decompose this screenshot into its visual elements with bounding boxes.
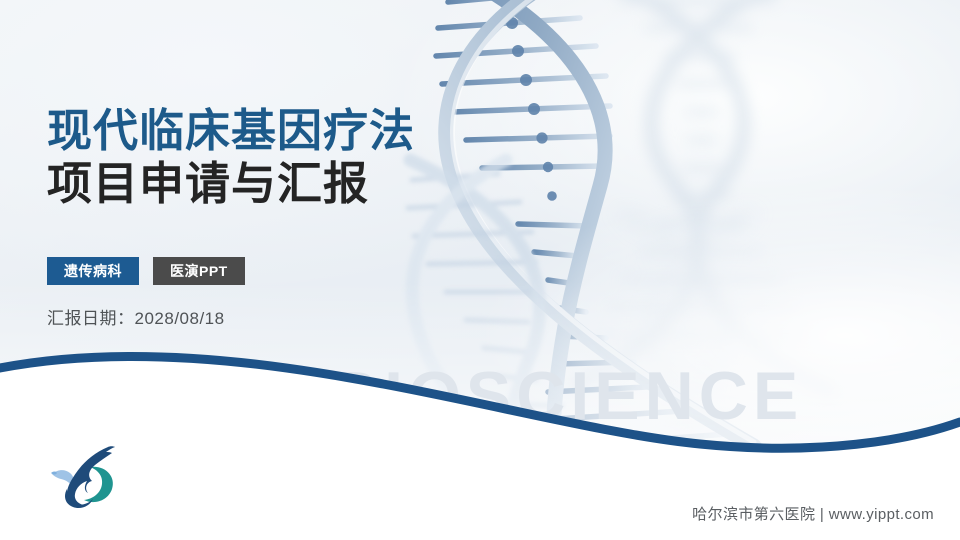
footer-text: 哈尔滨市第六医院 | www.yippt.com [692, 503, 934, 524]
title-block: 现代临床基因疗法 项目申请与汇报 [47, 104, 517, 210]
badge-row: 遗传病科 医演PPT [47, 257, 245, 285]
badge-brand: 医演PPT [153, 257, 245, 285]
badge-department: 遗传病科 [47, 257, 139, 285]
page-title-line-2: 项目申请与汇报 [47, 157, 517, 210]
report-date: 汇报日期：2028/08/18 [47, 304, 225, 329]
presentation-slide: BIOSCIENCE 现代临床基因疗法 项目申请与汇报 遗传病科 医演PPT 汇… [0, 0, 960, 540]
hospital-logo-icon [44, 443, 130, 511]
page-title-line-1: 现代临床基因疗法 [47, 104, 517, 157]
